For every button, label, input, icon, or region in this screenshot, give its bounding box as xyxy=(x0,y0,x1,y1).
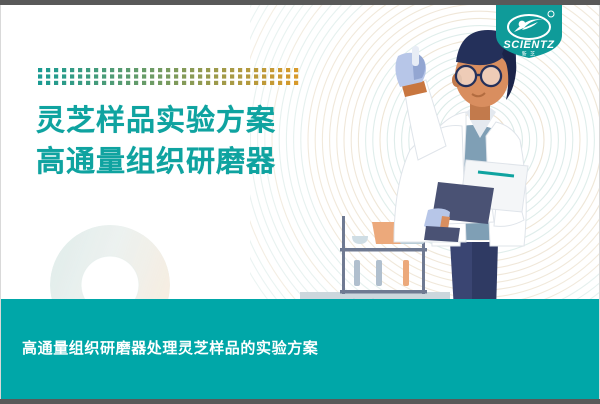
caption-band: 高通量组织研磨器处理灵芝样品的实验方案 xyxy=(0,299,600,399)
title-line-1: 灵芝样品实验方案 xyxy=(36,104,276,138)
title-line-2: 高通量组织研磨器 xyxy=(36,145,276,179)
scientz-logo: SCIENTZ 新 芝 xyxy=(494,5,564,59)
top-chrome-bar xyxy=(0,0,600,5)
slide-canvas: 灵芝样品实验方案 高通量组织研磨器 xyxy=(0,0,600,404)
page-title: 灵芝样品实验方案 高通量组织研磨器 xyxy=(36,104,276,179)
left-edge-rule xyxy=(0,5,1,399)
caption-text: 高通量组织研磨器处理灵芝样品的实验方案 xyxy=(22,337,318,358)
bottom-chrome-bar xyxy=(0,399,600,404)
dot-grid-decoration xyxy=(38,68,300,88)
logo-sub-wordmark: 新 芝 xyxy=(522,51,536,58)
logo-wordmark: SCIENTZ xyxy=(503,39,555,51)
